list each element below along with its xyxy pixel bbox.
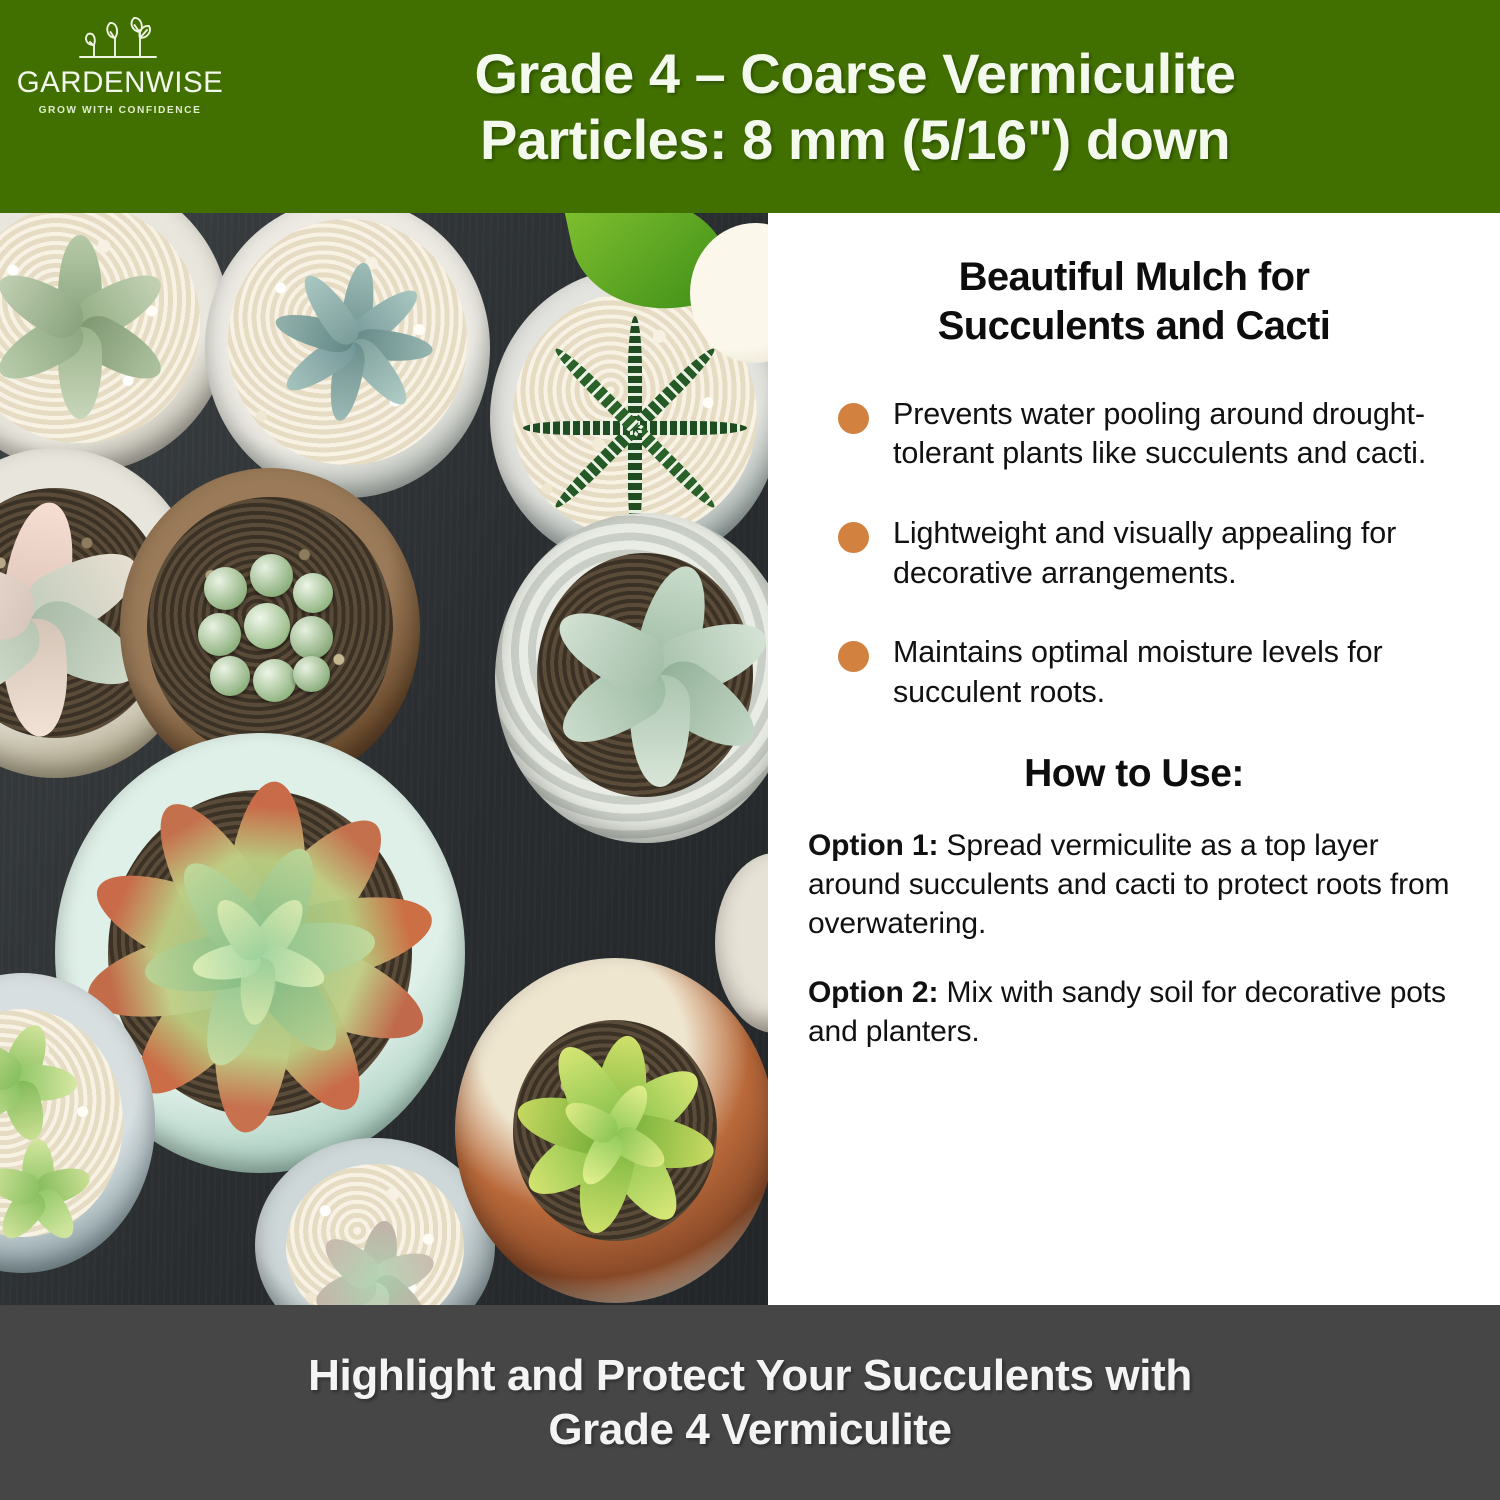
how-to-use-heading: How to Use: <box>796 752 1472 796</box>
brand-tagline: GROW WITH CONFIDENCE <box>39 105 202 116</box>
product-photo <box>0 213 768 1305</box>
info-panel: Beautiful Mulch for Succulents and Cacti… <box>768 213 1500 1305</box>
footer-line1: Highlight and Protect Your Succulents wi… <box>308 1349 1192 1403</box>
pot-bottom-right-rust <box>455 958 768 1303</box>
list-item: Maintains optimal moisture levels for su… <box>838 633 1464 712</box>
benefits-list: Prevents water pooling around drought-to… <box>838 395 1464 713</box>
product-title: Grade 4 – Coarse Vermiculite Particles: … <box>240 41 1500 172</box>
benefit-text: Lightweight and visually appealing for d… <box>893 514 1453 593</box>
usage-option-2: Option 2: Mix with sandy soil for decora… <box>808 973 1460 1051</box>
panel-heading-line2: Succulents and Cacti <box>938 304 1331 348</box>
bullet-dot-icon <box>838 641 869 672</box>
panel-heading: Beautiful Mulch for Succulents and Cacti <box>820 253 1448 351</box>
usage-option-1: Option 1: Spread vermiculite as a top la… <box>808 826 1460 943</box>
product-title-line1: Grade 4 – Coarse Vermiculite <box>240 41 1470 107</box>
footer-line2: Grade 4 Vermiculite <box>308 1403 1192 1457</box>
sprout-leaves-icon <box>74 14 166 66</box>
option-2-label: Option 2: <box>808 976 938 1009</box>
benefit-text: Maintains optimal moisture levels for su… <box>893 633 1453 712</box>
bullet-dot-icon <box>838 403 869 434</box>
footer-tagline: Highlight and Protect Your Succulents wi… <box>308 1349 1192 1456</box>
cactus-cluster <box>198 551 342 705</box>
benefit-text: Prevents water pooling around drought-to… <box>893 395 1453 474</box>
bullet-dot-icon <box>838 522 869 553</box>
list-item: Prevents water pooling around drought-to… <box>838 395 1464 474</box>
brand-wordmark: GARDENWISE <box>17 68 224 98</box>
option-1-label: Option 1: <box>808 829 938 862</box>
header-banner: GARDENWISE GROW WITH CONFIDENCE Grade 4 … <box>0 0 1500 213</box>
footer-banner: Highlight and Protect Your Succulents wi… <box>0 1305 1500 1500</box>
brand-logo: GARDENWISE GROW WITH CONFIDENCE <box>0 0 240 213</box>
product-infographic: GARDENWISE GROW WITH CONFIDENCE Grade 4 … <box>0 0 1500 1500</box>
product-title-line2: Particles: 8 mm (5/16") down <box>240 107 1470 173</box>
list-item: Lightweight and visually appealing for d… <box>838 514 1464 593</box>
panel-heading-line1: Beautiful Mulch for <box>959 255 1310 299</box>
